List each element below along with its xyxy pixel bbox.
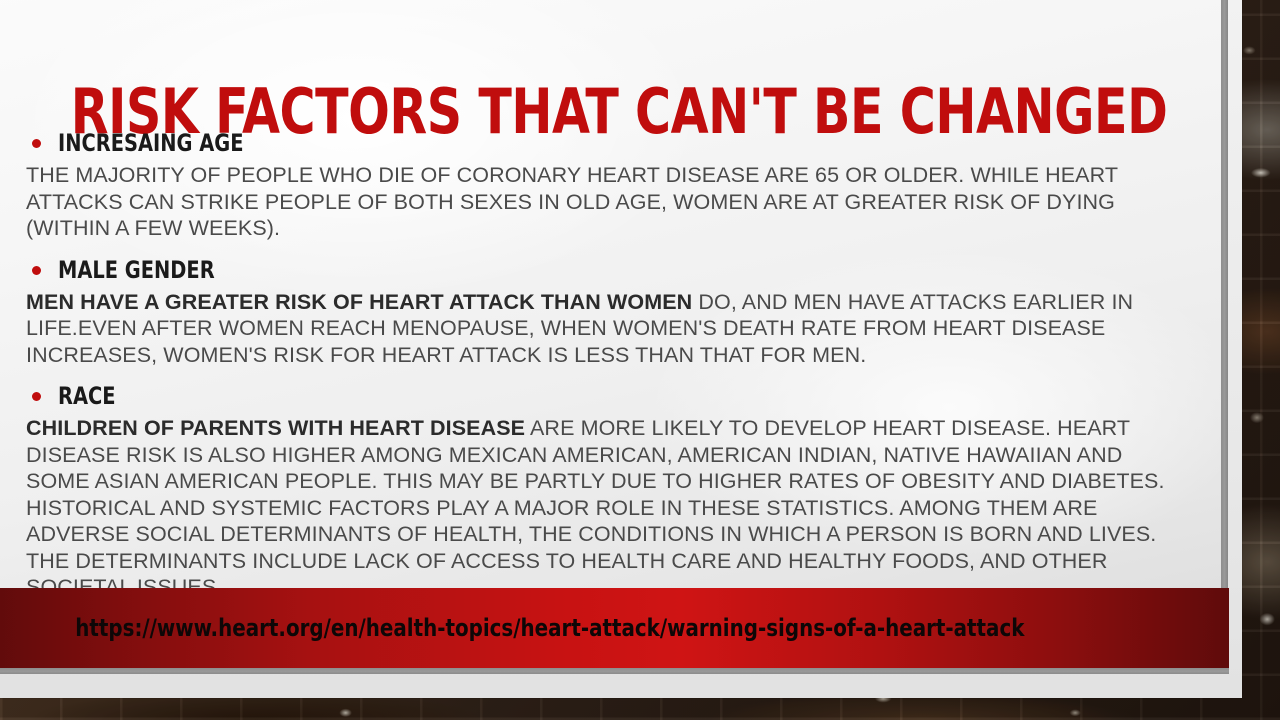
bullet-label: MALE GENDER <box>58 257 215 283</box>
source-url-link[interactable]: https://www.heart.org/en/health-topics/h… <box>75 614 1024 642</box>
bullet-label: INCRESAING AGE <box>58 130 243 156</box>
paragraph-male-gender: MEN HAVE A GREATER RISK OF HEART ATTACK … <box>26 289 1191 369</box>
bullet-item-increasing-age: INCRESAING AGE <box>26 130 1196 156</box>
paragraph-race: CHILDREN OF PARENTS WITH HEART DISEASE A… <box>26 415 1191 601</box>
footer-bar: https://www.heart.org/en/health-topics/h… <box>0 588 1229 668</box>
bullet-item-race: RACE <box>26 383 1196 409</box>
paragraph-lead: MEN HAVE A GREATER RISK OF HEART ATTACK … <box>26 290 692 314</box>
card-right-divider <box>1221 0 1228 656</box>
bullet-dot-icon <box>32 266 41 275</box>
paragraph-text: ARE MORE LIKELY TO DEVELOP HEART DISEASE… <box>26 416 1165 599</box>
bullet-dot-icon <box>32 392 41 401</box>
paragraph-lead: CHILDREN OF PARENTS WITH HEART DISEASE <box>26 416 525 440</box>
presentation-slide: RISK FACTORS THAT CAN'T BE CHANGED INCRE… <box>0 0 1280 720</box>
paragraph-increasing-age: THE MAJORITY OF PEOPLE WHO DIE OF CORONA… <box>26 162 1191 242</box>
bullet-item-male-gender: MALE GENDER <box>26 257 1196 283</box>
bullet-label: RACE <box>58 383 116 409</box>
card-bottom-divider <box>0 668 1229 674</box>
slide-content: INCRESAING AGE THE MAJORITY OF PEOPLE WH… <box>26 130 1196 614</box>
paragraph-text: THE MAJORITY OF PEOPLE WHO DIE OF CORONA… <box>26 163 1118 240</box>
bullet-dot-icon <box>32 139 41 148</box>
